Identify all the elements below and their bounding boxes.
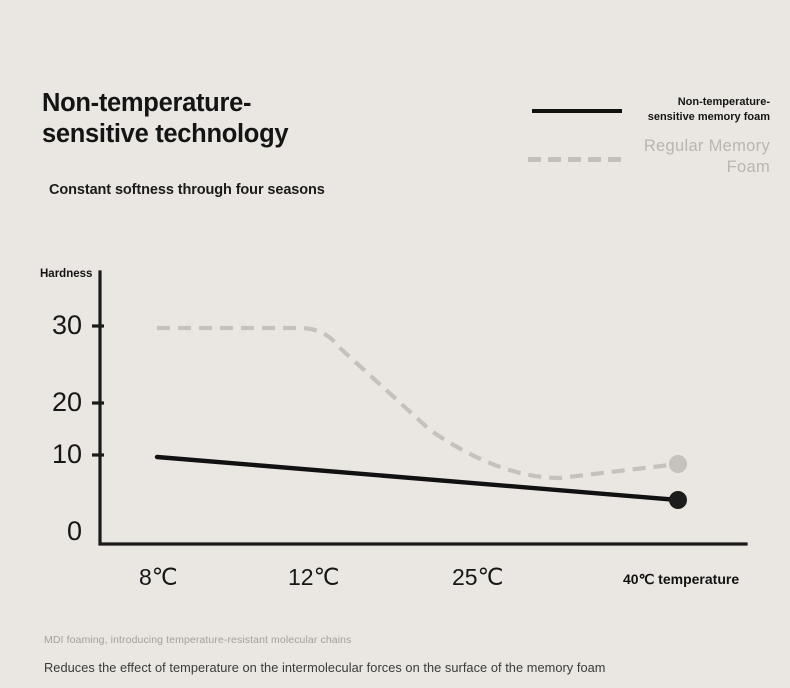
series-end-marker-non-temperature-sensitive [669, 491, 687, 509]
series-end-marker-regular-memory-foam [669, 455, 687, 473]
page-title: Non-temperature- sensitive technology [42, 88, 372, 149]
x-axis-tick-label-8c: 8℃ [139, 566, 178, 589]
legend-solid-line-swatch-icon [532, 109, 622, 113]
footer-caption-primary: MDI foaming, introducing temperature-res… [44, 634, 351, 646]
series-line-regular-memory-foam [157, 328, 678, 478]
chart-canvas: Non-temperature- sensitive technology Co… [0, 0, 790, 688]
x-axis-tick-label-12c: 12℃ [288, 566, 339, 589]
y-axis-tick-label-20: 20 [36, 389, 82, 416]
y-axis-tick-label-10: 10 [36, 441, 82, 468]
y-axis-tick-label-0: 0 [36, 518, 82, 545]
chart-legend: Non-temperature- sensitive memory foam R… [520, 86, 770, 178]
series-line-non-temperature-sensitive [157, 457, 678, 500]
legend-item-label: Regular Memory Foam [610, 136, 770, 177]
chart-axis-lines [100, 272, 746, 544]
legend-item-label: Non-temperature- sensitive memory foam [640, 95, 770, 125]
y-axis-tick-label-30: 30 [36, 312, 82, 339]
x-axis-tick-label-25c: 25℃ [452, 566, 503, 589]
footer-caption-secondary: Reduces the effect of temperature on the… [44, 660, 606, 675]
y-axis-title: Hardness [40, 268, 92, 280]
x-axis-tick-label-40c-temperature: 40℃ temperature [623, 572, 739, 586]
page-subtitle: Constant softness through four seasons [49, 182, 325, 198]
